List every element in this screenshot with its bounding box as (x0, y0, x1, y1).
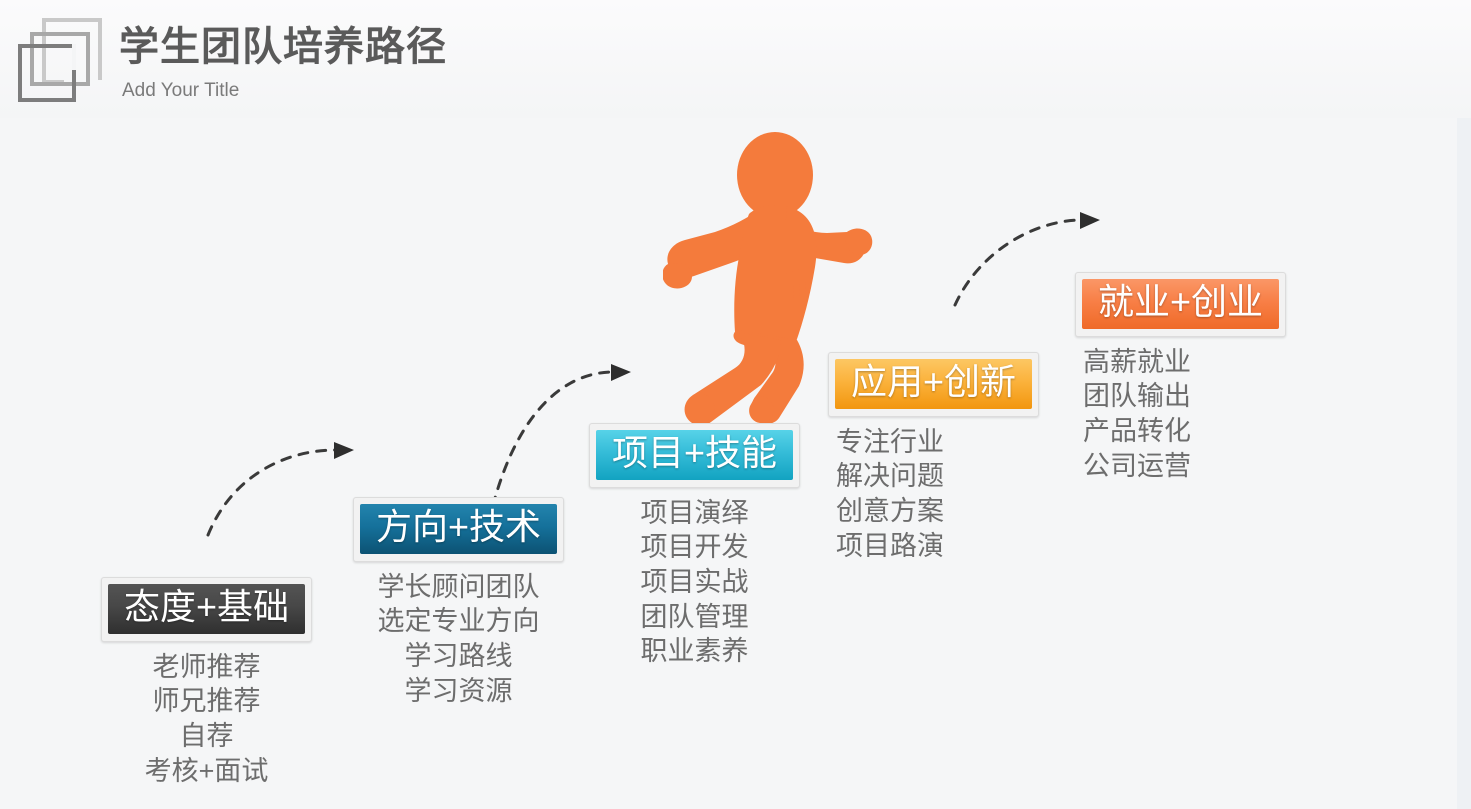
stage-1[interactable]: 态度+基础 老师推荐 师兄推荐 自荐 考核+面试 (101, 577, 312, 788)
header: 学生团队培养路径 Add Your Title (0, 0, 1471, 118)
list-item: 自荐 (101, 719, 312, 754)
list-item: 学习路线 (353, 639, 564, 674)
stage-5[interactable]: 就业+创业 高薪就业 团队输出 产品转化 公司运营 (1075, 272, 1286, 483)
stage-2[interactable]: 方向+技术 学长顾问团队 选定专业方向 学习路线 学习资源 (353, 497, 564, 708)
stage-4-list: 专注行业 解决问题 创意方案 项目路演 (836, 425, 1039, 563)
list-item: 团队管理 (589, 600, 800, 635)
stage-2-badge-label: 方向+技术 (360, 504, 557, 554)
arrow-stage2-to-stage3-head (611, 364, 631, 381)
stage-5-badge[interactable]: 就业+创业 (1075, 272, 1286, 337)
list-item: 项目开发 (589, 530, 800, 565)
right-edge-strip (1457, 0, 1471, 809)
stage-3-badge-label: 项目+技能 (596, 430, 793, 480)
list-item: 团队输出 (1083, 379, 1286, 414)
list-item: 学长顾问团队 (353, 570, 564, 605)
list-item: 产品转化 (1083, 414, 1286, 449)
arrow-stage4-to-stage5-path (955, 220, 1082, 305)
stage-3-badge[interactable]: 项目+技能 (589, 423, 800, 488)
stage-4-badge[interactable]: 应用+创新 (828, 352, 1039, 417)
page-subtitle: Add Your Title (122, 80, 239, 102)
list-item: 学习资源 (353, 674, 564, 709)
stage-3-list: 项目演绎 项目开发 项目实战 团队管理 职业素养 (589, 496, 800, 669)
stage-2-badge[interactable]: 方向+技术 (353, 497, 564, 562)
arrow-stage1-to-stage2-head (334, 442, 354, 459)
stage-1-list: 老师推荐 师兄推荐 自荐 考核+面试 (101, 650, 312, 788)
list-item: 解决问题 (836, 459, 1039, 494)
list-item: 创意方案 (836, 494, 1039, 529)
list-item: 公司运营 (1083, 449, 1286, 484)
list-item: 专注行业 (836, 425, 1039, 460)
list-item: 项目路演 (836, 529, 1039, 564)
list-item: 项目实战 (589, 565, 800, 600)
stage-4-badge-label: 应用+创新 (835, 359, 1032, 409)
slide-canvas: 学生团队培养路径 Add Your Title (0, 0, 1471, 809)
arrow-stage4-to-stage5-head (1080, 212, 1100, 229)
page-title: 学生团队培养路径 (119, 14, 447, 72)
list-item: 项目演绎 (589, 496, 800, 531)
stage-1-badge-label: 态度+基础 (108, 584, 305, 634)
list-item: 师兄推荐 (101, 684, 312, 719)
list-item: 职业素养 (589, 634, 800, 669)
stage-1-badge[interactable]: 态度+基础 (101, 577, 312, 642)
list-item: 高薪就业 (1083, 345, 1286, 380)
stage-2-list: 学长顾问团队 选定专业方向 学习路线 学习资源 (353, 570, 564, 708)
list-item: 考核+面试 (101, 754, 312, 789)
stage-5-badge-label: 就业+创业 (1082, 279, 1279, 329)
list-item: 老师推荐 (101, 650, 312, 685)
stage-3[interactable]: 项目+技能 项目演绎 项目开发 项目实战 团队管理 职业素养 (589, 423, 800, 669)
arrow-stage1-to-stage2-path (208, 450, 336, 535)
overlapping-squares-logo-icon (14, 14, 106, 106)
list-item: 选定专业方向 (353, 604, 564, 639)
stage-4[interactable]: 应用+创新 专注行业 解决问题 创意方案 项目路演 (828, 352, 1039, 563)
stage-5-list: 高薪就业 团队输出 产品转化 公司运营 (1083, 345, 1286, 483)
